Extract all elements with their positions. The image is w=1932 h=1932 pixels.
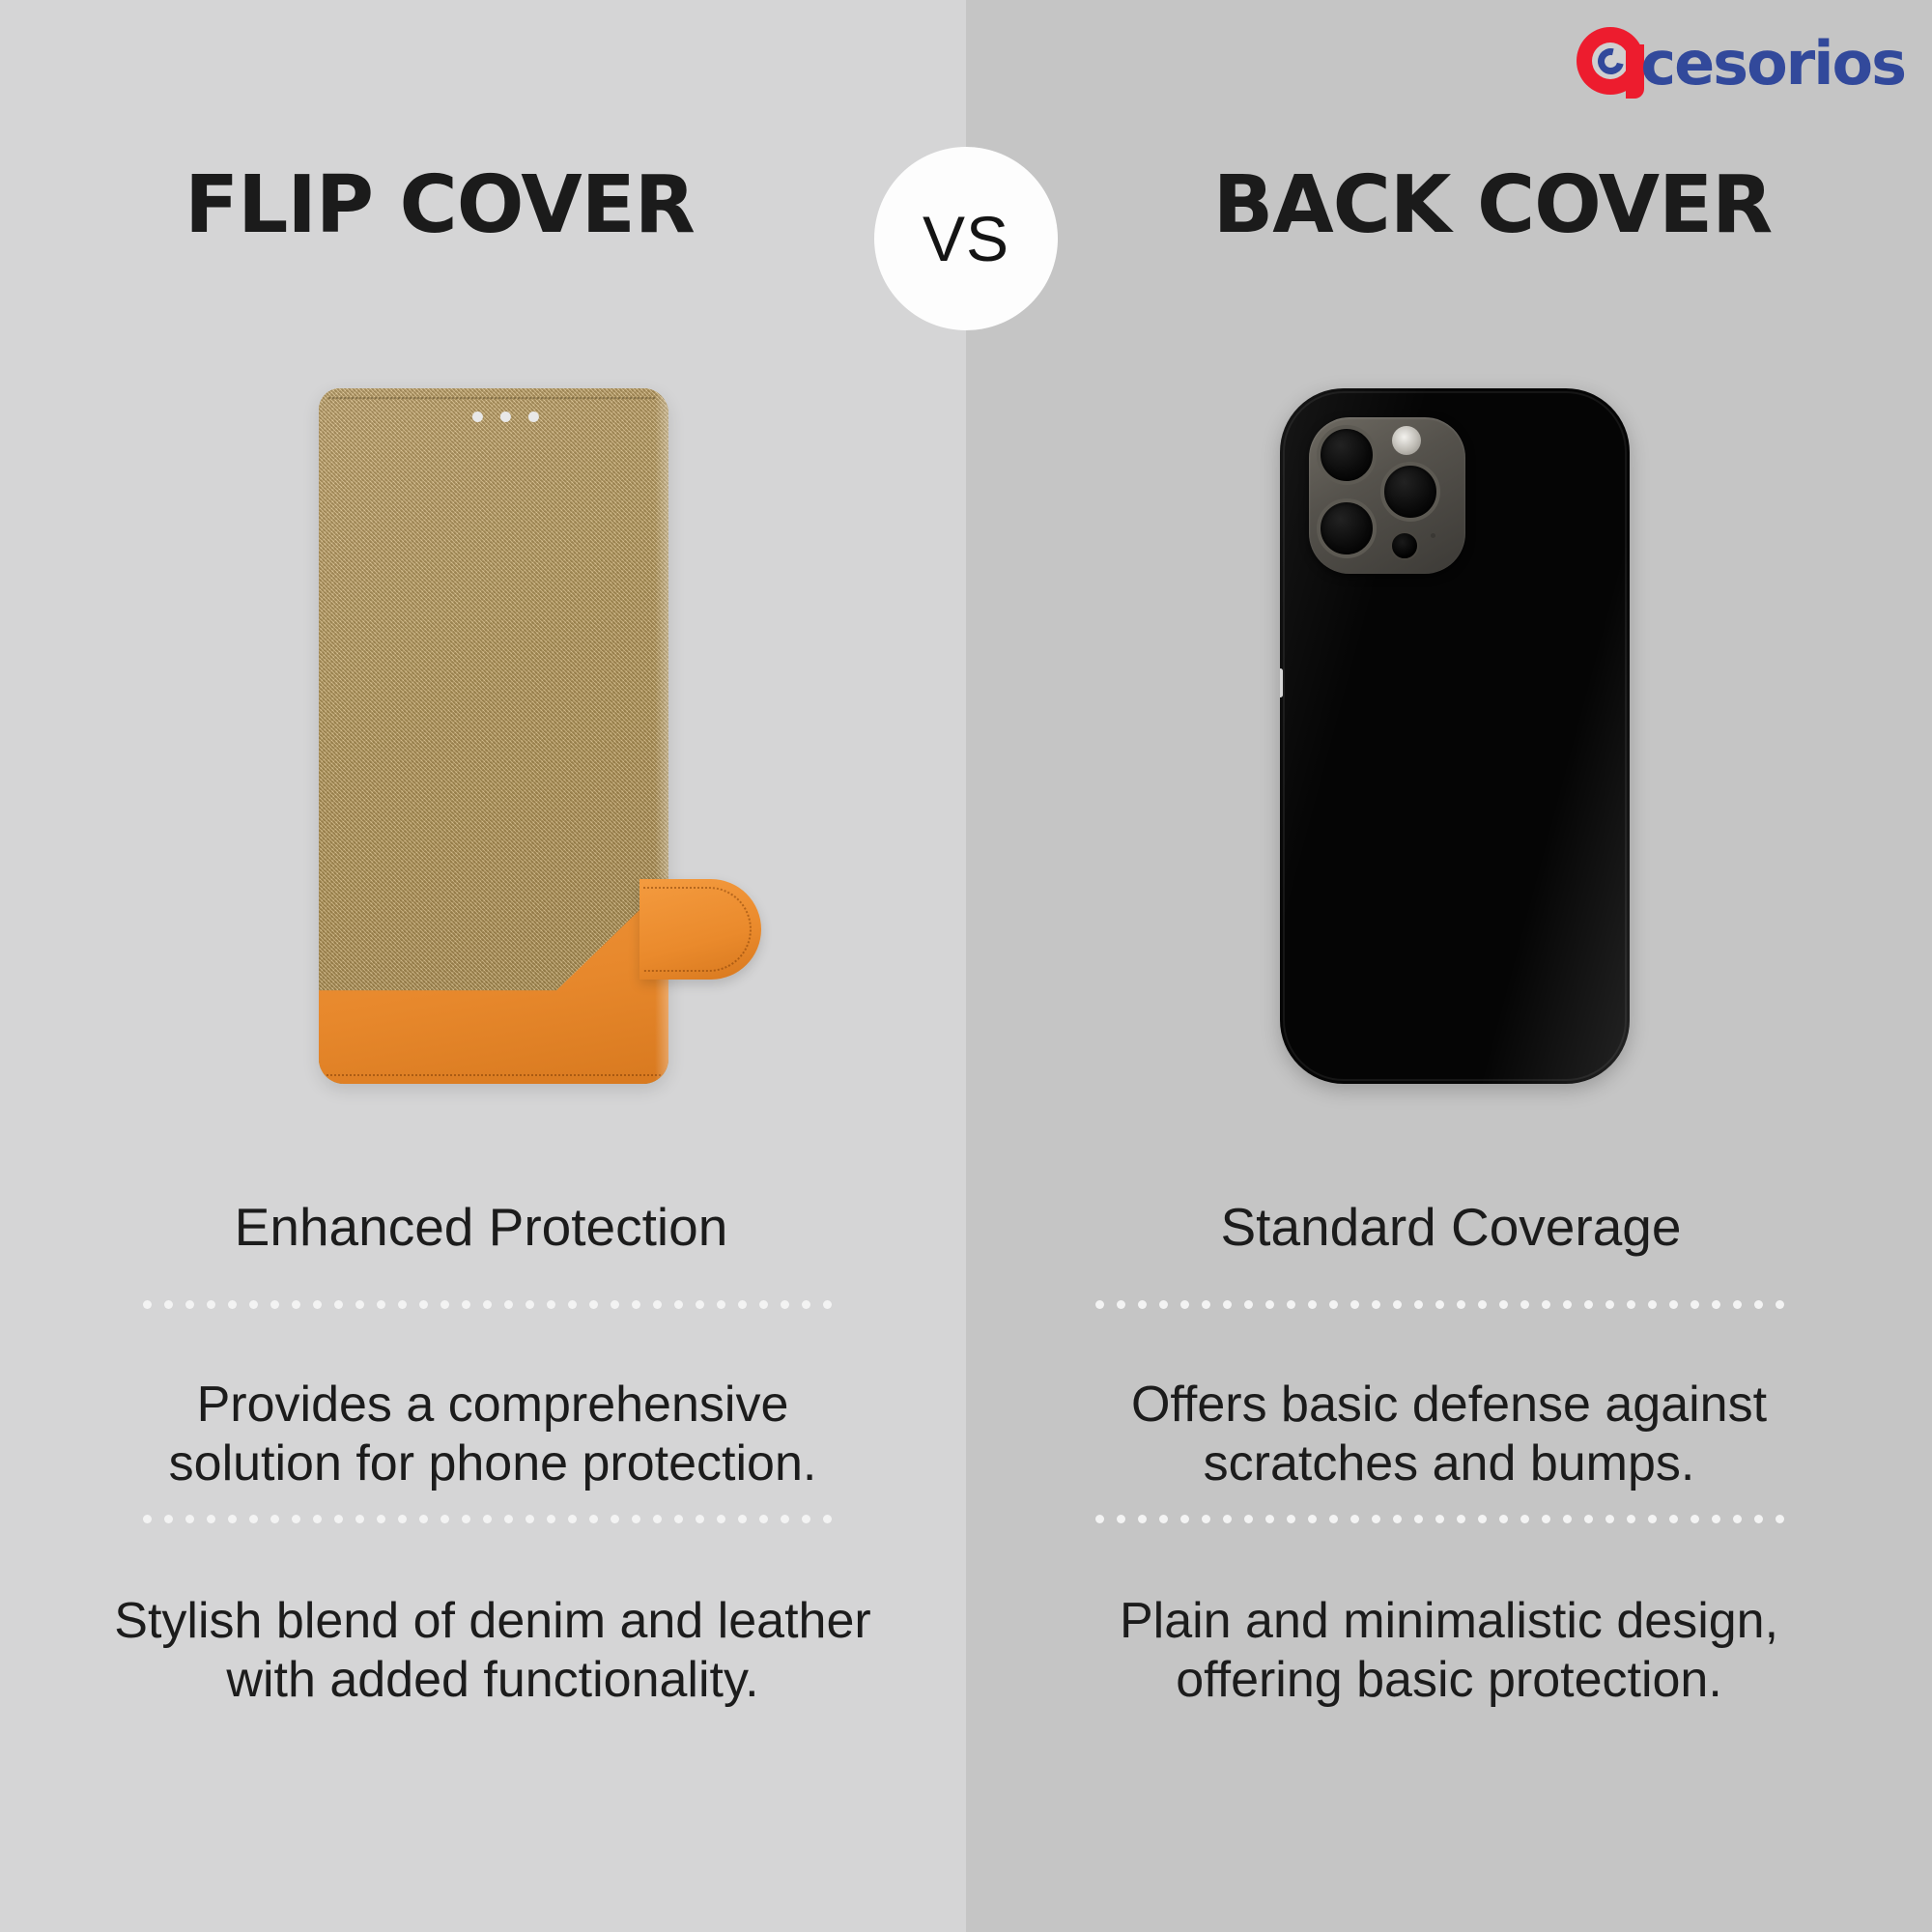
microphone-hole <box>1431 533 1435 538</box>
vs-badge: VS <box>874 147 1058 330</box>
camera-lens-bottom-left <box>1317 498 1377 558</box>
camera-module <box>1309 417 1465 574</box>
brand-logo-text: cesorios <box>1640 34 1905 94</box>
brand-logo: cesorios <box>1577 27 1905 95</box>
camera-lens-top-left <box>1317 425 1377 485</box>
comparison-infographic: cesorios FLIP COVER BACK COVER VS Enhanc… <box>0 0 1932 1932</box>
vs-badge-label: VS <box>923 202 1009 275</box>
side-button-cutout <box>1280 668 1283 697</box>
magnetic-clasp-flap <box>639 879 761 980</box>
left-column-heading: FLIP COVER <box>0 166 923 245</box>
right-feature-2: Plain and minimalistic design, offering … <box>1063 1592 1835 1711</box>
camera-flash-icon <box>1392 426 1421 455</box>
right-divider-1 <box>1095 1300 1795 1310</box>
flip-cover-product-image <box>319 388 668 1084</box>
back-cover-product-image <box>1280 388 1630 1084</box>
right-column-caption: Standard Coverage <box>968 1198 1932 1257</box>
cover-edge-highlight <box>655 388 668 1084</box>
left-feature-2: Stylish blend of denim and leather with … <box>106 1592 879 1711</box>
right-feature-1: Offers basic defense against scratches a… <box>1063 1376 1835 1494</box>
left-column-caption: Enhanced Protection <box>0 1198 964 1257</box>
left-feature-1: Provides a comprehensive solution for ph… <box>106 1376 879 1494</box>
top-stitching <box>328 397 655 399</box>
lidar-sensor-icon <box>1390 531 1419 560</box>
right-divider-2 <box>1095 1515 1795 1524</box>
acesorios-a-mark-icon <box>1577 27 1644 95</box>
left-divider-1 <box>143 1300 842 1310</box>
speaker-dots <box>472 412 539 422</box>
left-divider-2 <box>143 1515 842 1524</box>
right-column-heading: BACK COVER <box>1009 166 1932 245</box>
camera-lens-middle-right <box>1380 462 1440 522</box>
